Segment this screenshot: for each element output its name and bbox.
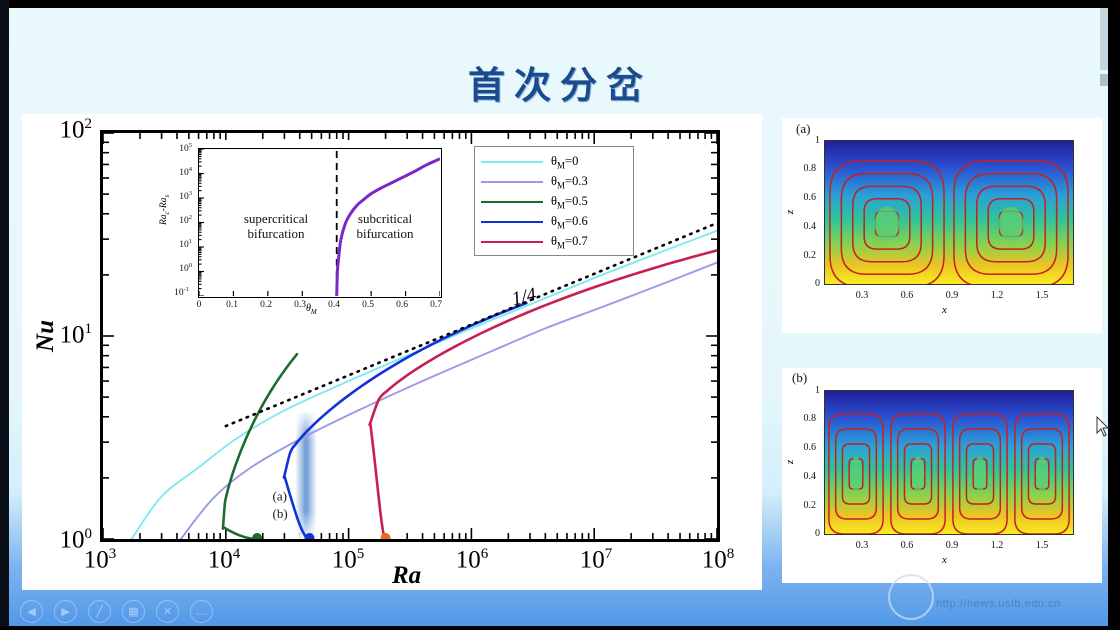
panel-a-field — [824, 140, 1074, 285]
chart-legend: θM=0 θM=0.3 θM=0.5 θM=0.6 θM=0.7 — [474, 146, 634, 256]
prev-slide-button[interactable]: ◀ — [20, 600, 43, 623]
panel-b-ytick-1: 1 — [792, 385, 820, 396]
inset-xtick-07: 0.7 — [424, 300, 448, 310]
main-ylabel: Nu — [32, 320, 60, 352]
panel-b-ytick-02: 0.2 — [788, 500, 816, 511]
inset-ytick-1e2: 102 — [158, 214, 192, 226]
inset-xtick-06: 0.6 — [390, 300, 414, 310]
main-bifurcation-chart: 102 101 100 Nu 103 104 105 106 107 108 R… — [22, 114, 762, 590]
panel-a-ytick-06: 0.6 — [788, 192, 816, 203]
presentation-toolbar[interactable]: ◀ ▶ ╱ ▦ ✕ … — [9, 596, 239, 626]
panel-b-xtick-03: 0.3 — [850, 540, 874, 551]
legend-item-theta-07: θM=0.7 — [475, 232, 633, 252]
branch-label-1: (b) — [272, 506, 287, 521]
presentation-slide: 首次分岔 102 101 100 Nu 103 104 105 106 107 … — [0, 0, 1120, 630]
inset-xtick-0: 0 — [187, 300, 211, 310]
inset-bifurcation-type-chart: Rac-Ras θM 105 104 103 102 101 100 10-1 … — [156, 140, 456, 330]
legend-label-theta-0: θM=0 — [551, 154, 578, 171]
legend-swatch-theta-06 — [481, 221, 543, 223]
legend-item-theta-0: θM=0 — [475, 152, 633, 172]
panel-a-xlabel: x — [942, 304, 947, 316]
panel-a-ytick-0: 0 — [792, 278, 820, 289]
panel-b-xtick-15: 1.5 — [1030, 540, 1054, 551]
panel-b-ytick-0: 0 — [792, 528, 820, 539]
flow-field-panel-b: (b) z x 1 0.8 0.6 0.4 0.2 0 0.3 0.6 0.9 … — [782, 368, 1102, 583]
legend-item-theta-05: θM=0.5 — [475, 192, 633, 212]
inset-ytick-1e3: 103 — [158, 190, 192, 202]
inset-xtick-01: 0.1 — [220, 300, 244, 310]
legend-label-theta-07: θM=0.7 — [551, 234, 588, 251]
panel-b-ytick-06: 0.6 — [788, 442, 816, 453]
scrollbar-track[interactable] — [1100, 74, 1108, 86]
main-xtick-1e5: 105 — [318, 546, 378, 574]
window-frame-top — [0, 0, 1120, 8]
panel-a-ytick-04: 0.4 — [788, 221, 816, 232]
panel-b-xlabel: x — [942, 554, 947, 566]
roll-core — [974, 457, 986, 491]
panel-a-ytick-1: 1 — [792, 135, 820, 146]
panel-a-xtick-03: 0.3 — [850, 290, 874, 301]
main-xtick-1e7: 107 — [566, 546, 626, 574]
next-slide-button[interactable]: ▶ — [54, 600, 77, 623]
subcritical-label: subcriticalbifurcation — [333, 211, 437, 241]
panel-b-field — [824, 390, 1074, 535]
panel-a-xtick-12: 1.2 — [985, 290, 1009, 301]
red-onset-dot — [381, 533, 391, 539]
legend-label-theta-06: θM=0.6 — [551, 214, 588, 231]
panel-a-xtick-15: 1.5 — [1030, 290, 1054, 301]
legend-swatch-theta-07 — [481, 241, 543, 243]
pen-tool-button[interactable]: ╱ — [88, 600, 111, 623]
roll-core — [850, 457, 862, 491]
inset-xtick-04: 0.4 — [322, 300, 346, 310]
panel-a-ylabel: z — [784, 210, 796, 214]
legend-swatch-theta-05 — [481, 201, 543, 203]
panel-b-label: (b) — [792, 370, 807, 386]
legend-label-theta-03: θM=0.3 — [551, 174, 588, 191]
legend-item-theta-06: θM=0.6 — [475, 212, 633, 232]
panel-a-ytick-02: 0.2 — [788, 250, 816, 261]
supercritical-label: supercriticalbifurcation — [221, 211, 331, 241]
inset-ytick-1e1: 101 — [158, 238, 192, 250]
roll-core — [1036, 457, 1048, 491]
main-xtick-1e3: 103 — [70, 546, 130, 574]
curve-theta_M=0.6 — [284, 303, 526, 539]
inset-axes: supercriticalbifurcation subcriticalbifu… — [198, 148, 442, 298]
pointer-options-button[interactable]: ✕ — [156, 600, 179, 623]
panel-b-xtick-09: 0.9 — [940, 540, 964, 551]
main-ytick-1e2: 102 — [28, 116, 92, 144]
main-xtick-1e8: 108 — [688, 546, 748, 574]
legend-swatch-theta-03 — [481, 181, 543, 183]
inset-xtick-05: 0.5 — [356, 300, 380, 310]
inset-ytick-1e0: 100 — [158, 262, 192, 274]
window-frame-left — [0, 0, 9, 630]
panel-a-xtick-09: 0.9 — [940, 290, 964, 301]
window-frame-bottom — [0, 626, 1120, 630]
legend-swatch-theta-0 — [481, 161, 543, 163]
panel-b-xtick-12: 1.2 — [985, 540, 1009, 551]
green-onset-dot — [252, 533, 262, 539]
main-xlabel: Ra — [392, 562, 421, 590]
panel-b-ytick-08: 0.8 — [788, 413, 816, 424]
panel-a-ytick-08: 0.8 — [788, 163, 816, 174]
main-xtick-1e4: 104 — [194, 546, 254, 574]
legend-item-theta-03: θM=0.3 — [475, 172, 633, 192]
roll-core — [875, 207, 900, 241]
inset-ytick-1e5: 105 — [158, 142, 192, 154]
reference-slope-label: 1/4 — [510, 284, 539, 310]
roll-core — [912, 457, 924, 491]
mouse-cursor — [1096, 416, 1112, 438]
flow-field-panel-a: (a) z x 1 0.8 0.6 0.4 0.2 0 0.3 0.6 0.9 … — [782, 118, 1102, 333]
main-xtick-1e6: 106 — [442, 546, 502, 574]
slide-view-button[interactable]: ▦ — [122, 600, 145, 623]
panel-b-xtick-06: 0.6 — [895, 540, 919, 551]
panel-a-xtick-06: 0.6 — [895, 290, 919, 301]
more-options-button[interactable]: … — [190, 600, 213, 623]
inset-xtick-03: 0.3 — [288, 300, 312, 310]
roll-core — [999, 207, 1024, 241]
inset-xtick-02: 0.2 — [254, 300, 278, 310]
inset-ytick-1e4: 104 — [158, 166, 192, 178]
legend-label-theta-05: θM=0.5 — [551, 194, 588, 211]
inset-ytick-1e-1: 10-1 — [155, 286, 189, 298]
page-title: 首次分岔 — [0, 55, 1120, 109]
panel-b-ytick-04: 0.4 — [788, 471, 816, 482]
scrollbar-thumb[interactable] — [1100, 8, 1108, 70]
panel-b-ylabel: z — [784, 460, 796, 464]
branch-label-0: (a) — [272, 488, 286, 503]
window-frame-right — [1108, 0, 1120, 630]
